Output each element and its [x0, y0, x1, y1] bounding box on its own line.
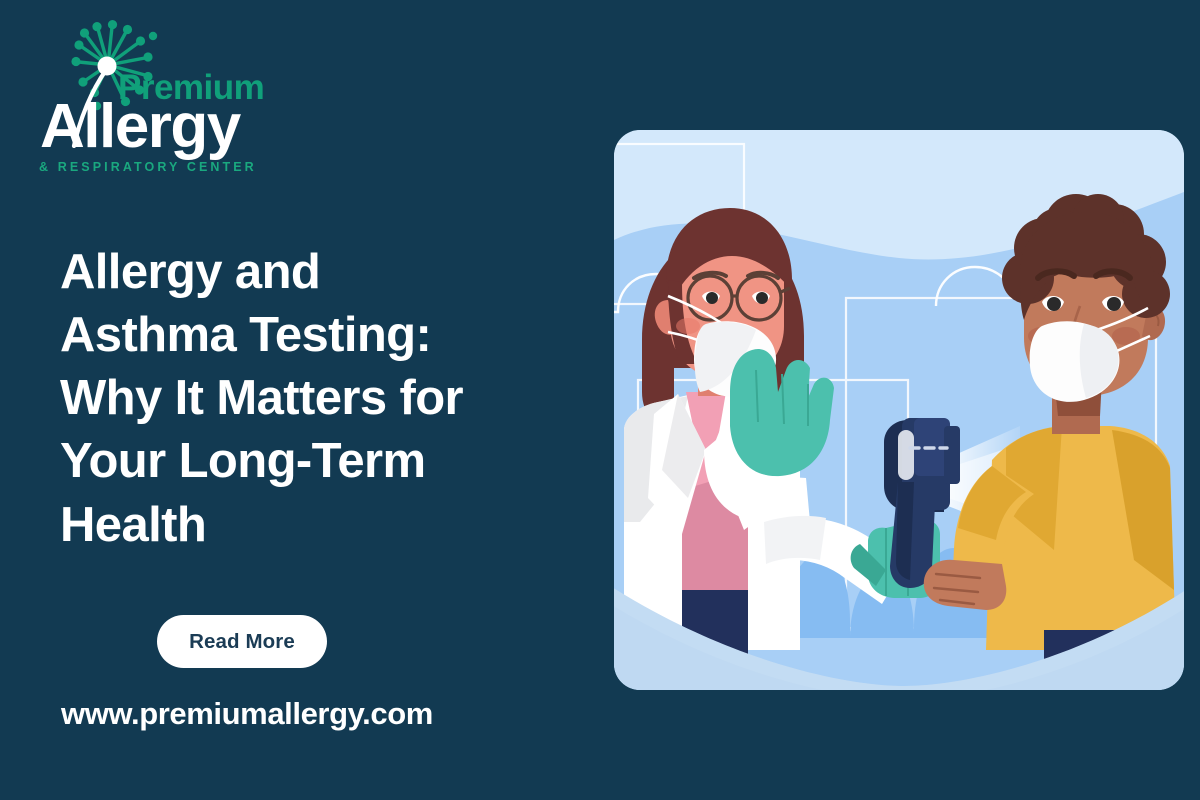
brand-logo[interactable]: Premium Allergy & RESPIRATORY CENTER: [36, 18, 296, 168]
logo-word-allergy: Allergy: [40, 96, 240, 158]
patient-hand: [924, 560, 1007, 610]
headline-line: Allergy and: [60, 245, 320, 299]
headline-line: Your Long-Term: [60, 434, 425, 488]
hero-illustration: [614, 130, 1184, 690]
headline-line: Why It Matters for: [60, 371, 463, 425]
page-title: Allergy and Asthma Testing: Why It Matte…: [60, 241, 590, 557]
logo-subtitle: & RESPIRATORY CENTER: [39, 161, 257, 174]
headline-line: Health: [60, 498, 206, 552]
read-more-button[interactable]: Read More: [157, 615, 327, 668]
website-url[interactable]: www.premiumallergy.com: [61, 698, 433, 729]
headline-line: Asthma Testing:: [60, 308, 431, 362]
social-media-banner: Premium Allergy & RESPIRATORY CENTER All…: [0, 0, 1200, 800]
read-more-label: Read More: [189, 630, 295, 654]
